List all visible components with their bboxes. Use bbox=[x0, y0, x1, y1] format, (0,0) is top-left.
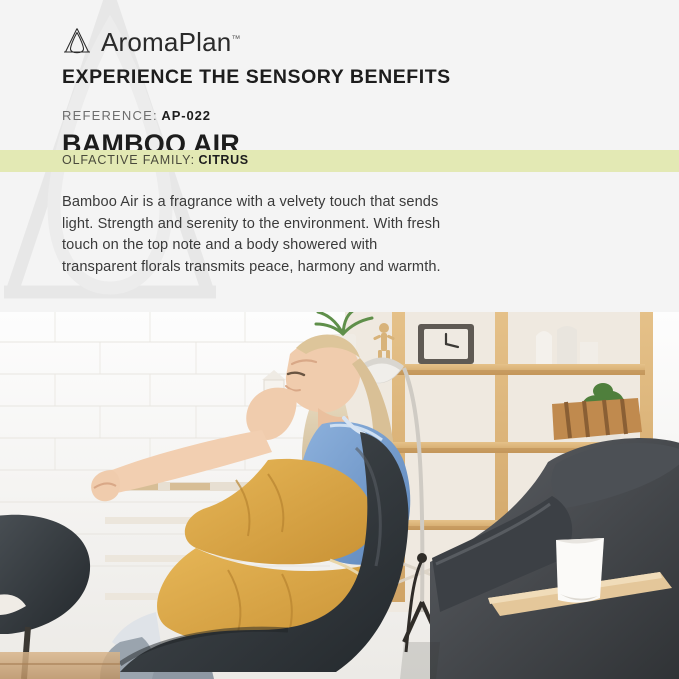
lifestyle-photo bbox=[0, 312, 679, 679]
brand-logo: AromaPlan™ bbox=[62, 0, 679, 56]
reference-label: REFERENCE: bbox=[62, 108, 158, 123]
brand-name: AromaPlan™ bbox=[101, 29, 240, 55]
product-description-text: Bamboo Air is a fragrance with a velvety… bbox=[62, 192, 442, 278]
reference-value: AP-022 bbox=[161, 108, 210, 123]
trademark-symbol: ™ bbox=[231, 33, 240, 43]
aromaplan-triangle-leaf-icon bbox=[62, 26, 92, 56]
olfactive-family-text: OLFACTIVE FAMILY: CITRUS bbox=[62, 153, 249, 168]
olfactive-family-label: OLFACTIVE FAMILY: bbox=[62, 153, 195, 167]
product-info-panel: AromaPlan™ EXPERIENCE THE SENSORY BENEFI… bbox=[0, 0, 679, 312]
product-reference: REFERENCE: AP-022 bbox=[62, 109, 679, 123]
lifestyle-photo-illustration bbox=[0, 312, 679, 679]
brand-name-text: AromaPlan bbox=[101, 27, 231, 57]
brand-tagline: EXPERIENCE THE SENSORY BENEFITS bbox=[62, 67, 679, 88]
olfactive-family-band: OLFACTIVE FAMILY: CITRUS bbox=[0, 150, 679, 172]
product-description: Bamboo Air is a fragrance with a velvety… bbox=[62, 192, 442, 278]
olfactive-family-value: CITRUS bbox=[199, 153, 249, 167]
product-card: AromaPlan™ EXPERIENCE THE SENSORY BENEFI… bbox=[0, 0, 679, 679]
